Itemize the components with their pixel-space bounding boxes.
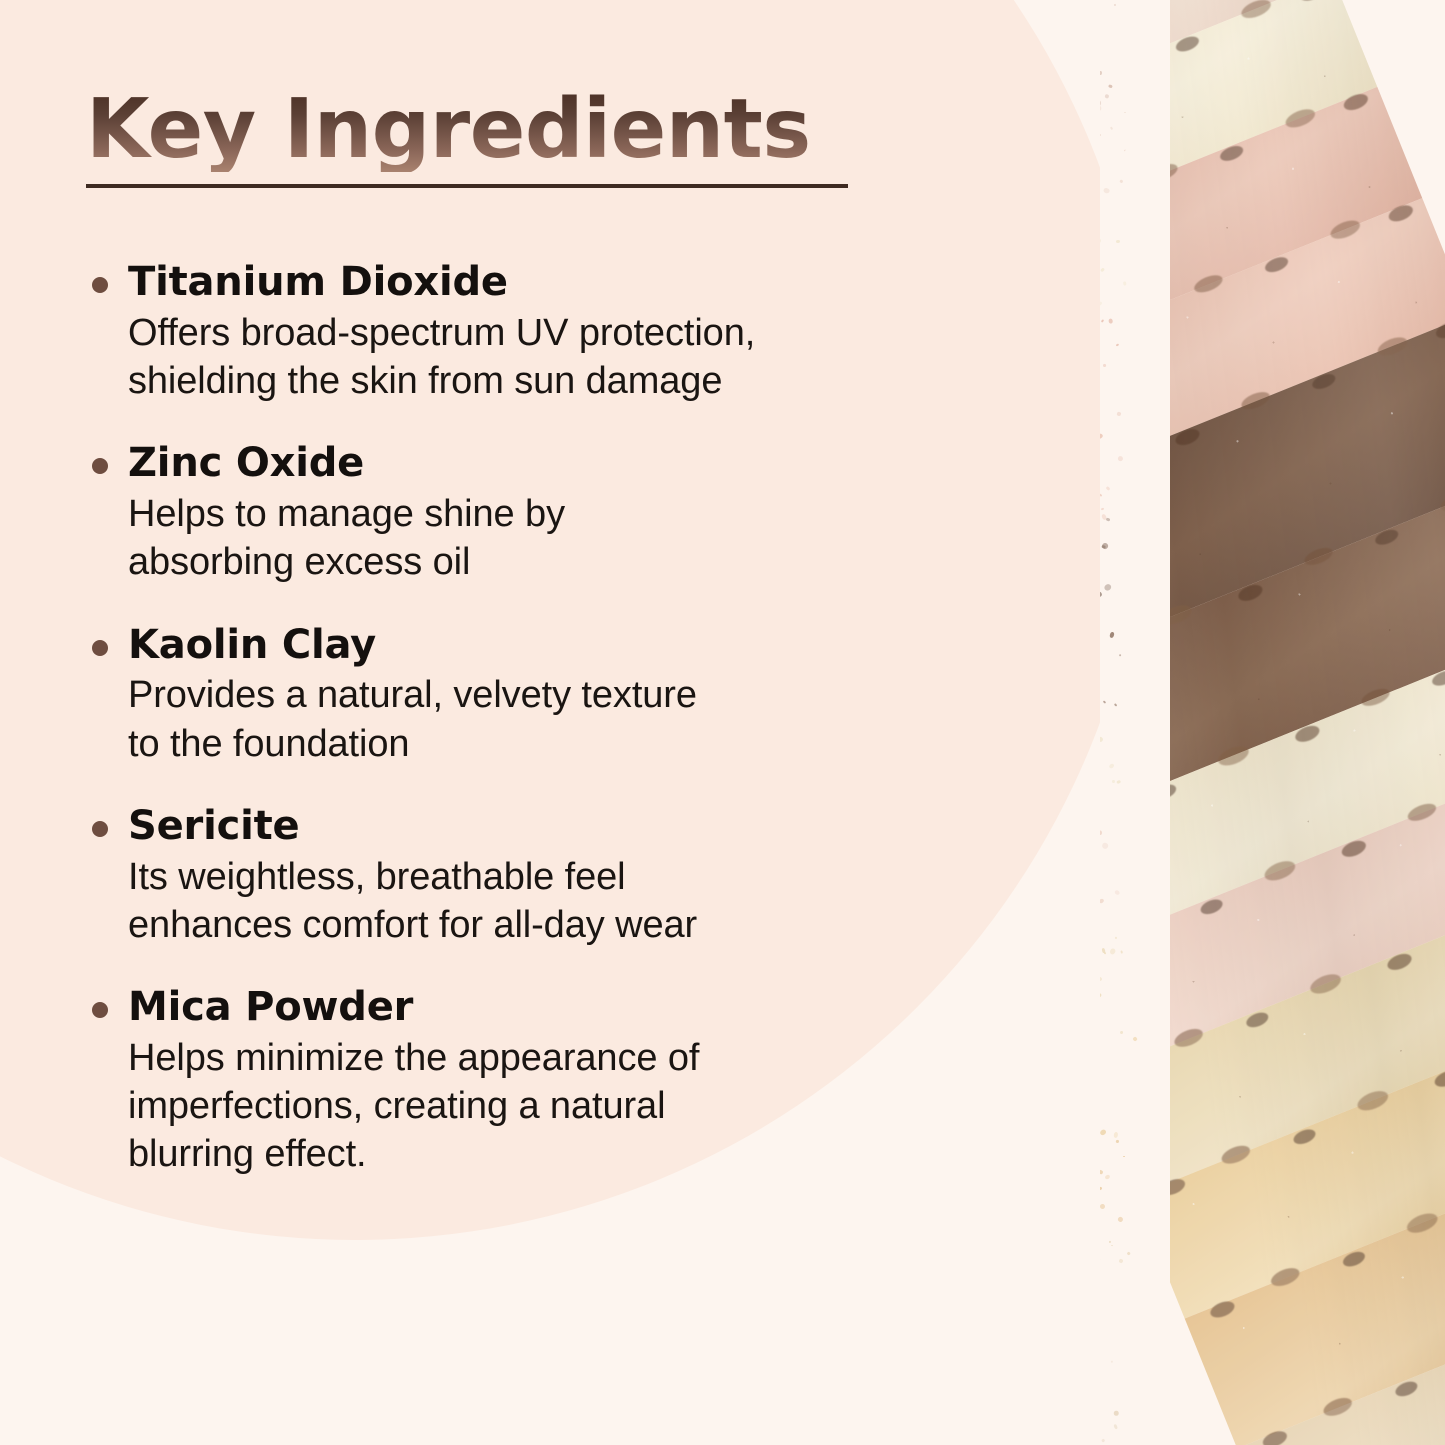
bullet-dot-icon <box>92 458 108 474</box>
page-title-block: Key Ingredients <box>86 88 886 172</box>
powder-speck <box>1101 1438 1105 1442</box>
ingredient-name: Kaolin Clay <box>128 621 966 670</box>
powder-speck <box>1119 1258 1124 1263</box>
bullet-dot-icon <box>92 277 108 293</box>
content-column: Key Ingredients Titanium DioxideOffers b… <box>0 0 1000 1445</box>
powder-speck <box>1104 1174 1110 1180</box>
title-underline <box>86 184 848 188</box>
powder-speck <box>1100 1266 1101 1274</box>
powder-speck <box>1100 1169 1102 1174</box>
ingredient-description-line: Helps minimize the appearance of <box>128 1034 966 1082</box>
ingredient-name: Mica Powder <box>128 983 966 1032</box>
ingredient-description-line: Provides a natural, velvety texture <box>128 671 966 719</box>
ingredient-description: Its weightless, breathable feelenhances … <box>128 853 966 950</box>
powder-speck <box>1111 1244 1113 1245</box>
powder-speck <box>1126 1252 1130 1256</box>
ingredient-item: SericiteIts weightless, breathable feele… <box>86 802 966 949</box>
powder-speck <box>1114 1411 1119 1416</box>
ingredient-name: Sericite <box>128 802 966 851</box>
page-title: Key Ingredients <box>86 88 886 172</box>
ingredient-description-line: to the foundation <box>128 720 966 768</box>
ingredient-description: Helps minimize the appearance ofimperfec… <box>128 1034 966 1179</box>
bullet-dot-icon <box>92 640 108 656</box>
powder-speck <box>1100 1256 1101 1263</box>
powder-speck <box>1109 1240 1111 1242</box>
powder-speck <box>1100 1129 1107 1136</box>
ingredient-description-line: Helps to manage shine by <box>128 490 966 538</box>
bullet-dot-icon <box>92 821 108 837</box>
ingredient-item: Titanium DioxideOffers broad-spectrum UV… <box>86 258 966 405</box>
powder-speck <box>1100 1204 1105 1209</box>
ingredient-name: Titanium Dioxide <box>128 258 966 307</box>
ingredient-item: Zinc OxideHelps to manage shine byabsorb… <box>86 439 966 586</box>
powder-speck <box>1113 1424 1118 1430</box>
powder-speck <box>1100 1186 1103 1190</box>
ingredient-description: Offers broad-spectrum UV protection,shie… <box>128 309 966 406</box>
powder-swatch-image <box>1100 0 1445 1445</box>
ingredient-description: Helps to manage shine byabsorbing excess… <box>128 490 966 587</box>
ingredient-description-line: Offers broad-spectrum UV protection, <box>128 309 966 357</box>
ingredient-description-line: enhances comfort for all-day wear <box>128 901 966 949</box>
ingredient-description-line: imperfections, creating a natural <box>128 1082 966 1130</box>
powder-speck <box>1117 1217 1124 1224</box>
ingredient-description-line: absorbing excess oil <box>128 538 966 586</box>
bullet-dot-icon <box>92 1002 108 1018</box>
ingredient-description-line: shielding the skin from sun damage <box>128 357 966 405</box>
powder-speck <box>1111 1360 1113 1363</box>
ingredient-description-line: blurring effect. <box>128 1130 966 1178</box>
ingredient-item: Kaolin ClayProvides a natural, velvety t… <box>86 621 966 768</box>
ingredient-item: Mica PowderHelps minimize the appearance… <box>86 983 966 1179</box>
ingredient-list: Titanium DioxideOffers broad-spectrum UV… <box>86 258 966 1179</box>
key-ingredients-infographic: Key Ingredients Titanium DioxideOffers b… <box>0 0 1445 1445</box>
ingredient-description-line: Its weightless, breathable feel <box>128 853 966 901</box>
ingredient-name: Zinc Oxide <box>128 439 966 488</box>
ingredient-description: Provides a natural, velvety textureto th… <box>128 671 966 768</box>
powder-bands <box>1100 0 1445 1445</box>
